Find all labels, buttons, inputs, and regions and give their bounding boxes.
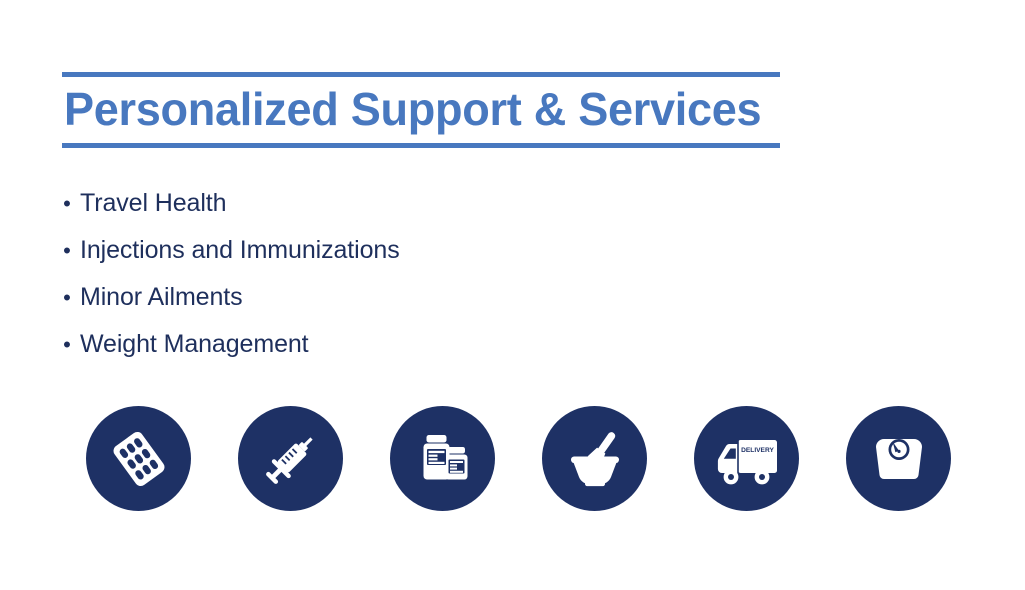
list-item-label: Minor Ailments xyxy=(80,274,243,320)
list-item: • Weight Management xyxy=(54,321,400,368)
bullet-marker-icon: • xyxy=(54,181,80,227)
icon-badge-delivery-truck: DELIVERY xyxy=(694,406,799,511)
slide-canvas: Personalized Support & Services • Travel… xyxy=(0,0,1025,590)
list-item: • Minor Ailments xyxy=(54,274,400,321)
mortar-and-pestle-icon xyxy=(562,426,628,492)
list-item-label: Travel Health xyxy=(80,180,226,226)
bullet-marker-icon: • xyxy=(54,322,80,368)
services-bullet-list: • Travel Health • Injections and Immuniz… xyxy=(54,180,400,368)
list-item: • Travel Health xyxy=(54,180,400,227)
syringe-icon xyxy=(258,426,324,492)
icon-badge-blister-pack xyxy=(86,406,191,511)
icon-badge-syringe xyxy=(238,406,343,511)
icon-badge-mortar-and-pestle xyxy=(542,406,647,511)
list-item: • Injections and Immunizations xyxy=(54,227,400,274)
bullet-marker-icon: • xyxy=(54,228,80,274)
weight-scale-icon xyxy=(867,427,931,491)
service-icon-row: DELIVERY xyxy=(86,406,951,511)
pill-bottles-icon xyxy=(411,427,475,491)
delivery-truck-label: DELIVERY xyxy=(741,447,774,454)
list-item-label: Weight Management xyxy=(80,321,309,367)
icon-badge-pill-bottles xyxy=(390,406,495,511)
page-title: Personalized Support & Services xyxy=(62,77,766,140)
icon-badge-weight-scale xyxy=(846,406,951,511)
list-item-label: Injections and Immunizations xyxy=(80,227,400,273)
delivery-truck-icon: DELIVERY xyxy=(712,424,782,494)
title-rule-bottom xyxy=(62,143,780,148)
title-block: Personalized Support & Services xyxy=(62,72,780,148)
blister-pack-icon xyxy=(107,427,171,491)
bullet-marker-icon: • xyxy=(54,275,80,321)
